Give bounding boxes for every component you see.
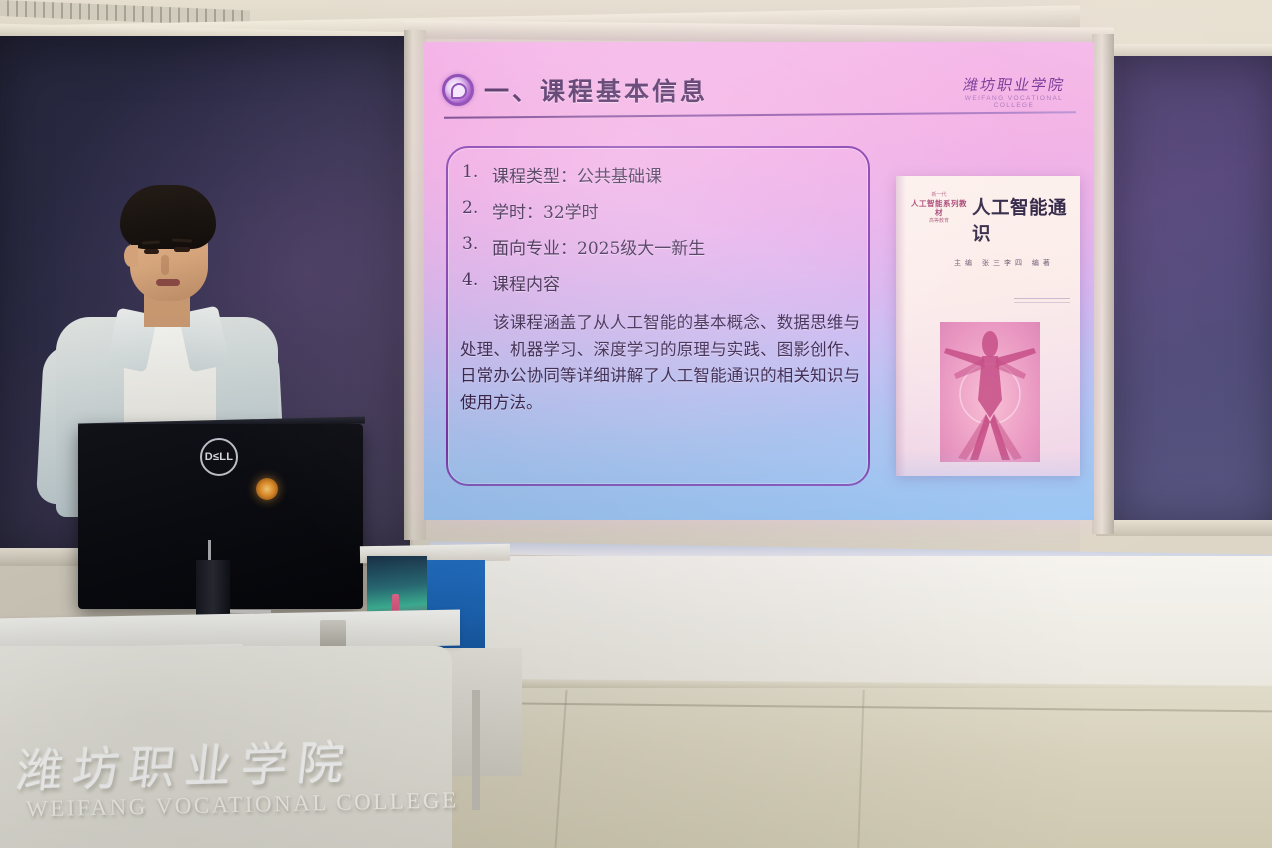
book-title: 人工智能通识 — [972, 194, 1072, 246]
list-item: 3. 面向专业：2025级大一新生 — [462, 234, 858, 259]
slide-school-logo: 潍坊职业学院 WEIFANG VOCATIONAL COLLEGE — [944, 78, 1084, 109]
target-swirl-icon — [442, 74, 474, 106]
book-divider — [1014, 298, 1070, 299]
screen-rail-right — [1092, 34, 1114, 534]
book-authors: 主编 张三李四 编著 — [954, 258, 1054, 268]
presenter-ear — [124, 245, 138, 267]
course-content-paragraph: 该课程涵盖了从人工智能的基本概念、数据思维与处理、机器学习、深度学习的原理与实践… — [460, 310, 860, 417]
list-item-label: 课程类型：公共基础课 — [492, 162, 662, 187]
vitruvian-figure-icon — [940, 322, 1040, 462]
right-blackboard-chalk-tray — [1096, 520, 1272, 536]
numbered-list: 1. 课程类型：公共基础课 2. 学时：32学时 3. 面向专业：2025级大一… — [462, 162, 858, 306]
monitor-stand — [196, 560, 230, 620]
list-item-index: 2. — [462, 198, 482, 223]
dell-logo-badge: D≤LL — [200, 438, 238, 476]
book-series-line2: 人工智能系列教材 — [910, 199, 968, 219]
book-series-label: 新一代 人工智能系列教材 高等教育 — [910, 192, 968, 225]
list-item-label: 学时：32学时 — [492, 198, 599, 223]
screen-rail-left — [404, 30, 426, 540]
list-item-index: 3. — [462, 234, 482, 259]
slide-school-logo-cn: 潍坊职业学院 — [943, 78, 1086, 93]
slide-title: 一、课程基本信息 — [484, 72, 708, 108]
list-item-label: 课程内容 — [492, 270, 560, 295]
slide-school-logo-en: WEIFANG VOCATIONAL COLLEGE — [944, 96, 1084, 109]
list-item: 2. 学时：32学时 — [462, 198, 858, 223]
presenter-eye-right — [174, 247, 190, 252]
list-item: 1. 课程类型：公共基础课 — [462, 162, 858, 187]
presenter-hair — [120, 185, 216, 249]
lower-wall — [430, 556, 1272, 692]
classroom-photo: 一、课程基本信息 潍坊职业学院 WEIFANG VOCATIONAL COLLE… — [0, 0, 1272, 848]
side-table-leg — [472, 690, 480, 810]
list-item: 4. 课程内容 — [462, 270, 858, 295]
book-divider-secondary — [1014, 302, 1070, 303]
presenter-eye-left — [144, 249, 159, 254]
list-item-label: 面向专业：2025级大一新生 — [492, 234, 705, 259]
textbook-cover-image: 新一代 人工智能系列教材 高等教育 人工智能通识 主编 张三李四 编著 — [896, 176, 1080, 476]
presenter-nose — [161, 255, 169, 275]
floor — [420, 688, 1272, 848]
power-indicator-light — [256, 478, 278, 500]
right-blackboard — [1112, 56, 1272, 528]
list-item-index: 1. — [462, 162, 482, 187]
projected-slide: 一、课程基本信息 潍坊职业学院 WEIFANG VOCATIONAL COLLE… — [424, 42, 1094, 520]
slide-bottom-glow — [424, 450, 1094, 520]
slide-content-box: 1. 课程类型：公共基础课 2. 学时：32学时 3. 面向专业：2025级大一… — [446, 146, 870, 486]
presenter-mouth — [156, 279, 180, 286]
list-item-index: 4. — [462, 270, 482, 295]
book-series-line3: 高等教育 — [910, 218, 968, 225]
